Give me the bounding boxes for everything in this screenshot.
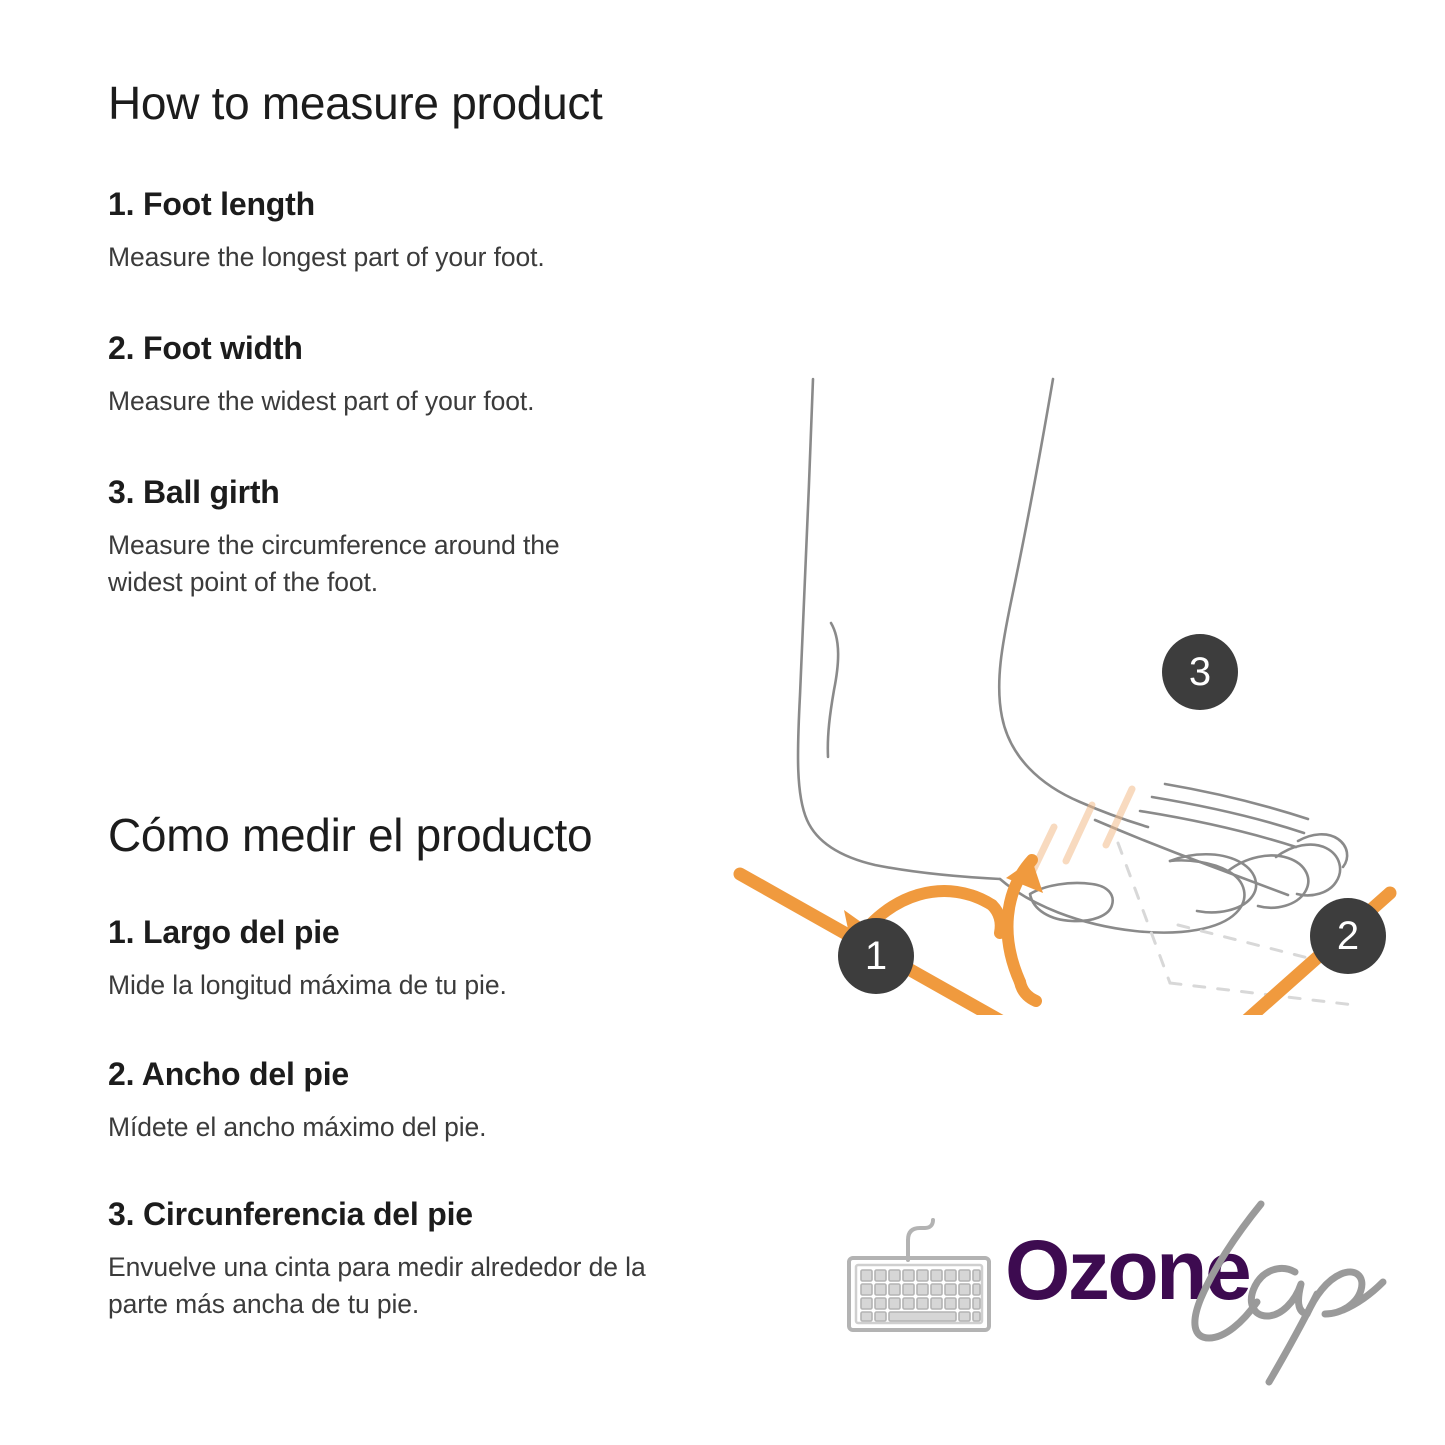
big-toe-nail bbox=[1030, 883, 1113, 921]
logo-lap-script bbox=[1165, 1198, 1395, 1388]
spanish-step-3: 3. Circunferencia del pie Envuelve una c… bbox=[108, 1196, 648, 1324]
girth-tape-hint-b bbox=[1066, 805, 1092, 861]
page-root: How to measure product 1. Foot length Me… bbox=[0, 0, 1445, 1445]
spanish-step-2: 2. Ancho del pie Mídete el ancho máximo … bbox=[108, 1056, 748, 1146]
badge-1-label: 1 bbox=[865, 936, 887, 976]
shin-instep-outline bbox=[999, 379, 1148, 827]
spanish-step-2-body: Mídete el ancho máximo del pie. bbox=[108, 1109, 748, 1147]
spanish-step-2-heading: 2. Ancho del pie bbox=[108, 1056, 748, 1093]
spanish-step-3-heading: 3. Circunferencia del pie bbox=[108, 1196, 648, 1233]
big-toe-outline bbox=[1000, 860, 1244, 932]
badge-2-label: 2 bbox=[1337, 916, 1359, 956]
girth-arrow-over-tail bbox=[992, 905, 1001, 933]
english-step-2-body: Measure the widest part of your foot. bbox=[108, 383, 748, 421]
girth-arrow-up-tail bbox=[1020, 982, 1036, 1001]
english-step-1-heading: 1. Foot length bbox=[108, 186, 748, 223]
badge-foot-width: 2 bbox=[1310, 898, 1386, 974]
badge-foot-length: 1 bbox=[838, 918, 914, 994]
english-step-3: 3. Ball girth Measure the circumference … bbox=[108, 474, 628, 602]
foot-heel-outline bbox=[798, 379, 1000, 879]
ball-plane-guide-left bbox=[1118, 843, 1170, 983]
english-step-3-heading: 3. Ball girth bbox=[108, 474, 628, 511]
badge-ball-girth: 3 bbox=[1162, 634, 1238, 710]
english-step-1-body: Measure the longest part of your foot. bbox=[108, 239, 748, 277]
keyboard-icon bbox=[845, 1218, 993, 1338]
ankle-crease bbox=[828, 623, 838, 757]
spanish-section-title: Cómo medir el producto bbox=[108, 810, 592, 861]
toe-line-a bbox=[1140, 811, 1296, 847]
brand-logo: Ozone bbox=[845, 1210, 1385, 1410]
english-step-3-body: Measure the circumference around the wid… bbox=[108, 527, 628, 602]
english-section-title: How to measure product bbox=[108, 78, 603, 129]
spanish-step-3-body: Envuelve una cinta para medir alrededor … bbox=[108, 1249, 648, 1324]
english-step-1: 1. Foot length Measure the longest part … bbox=[108, 186, 748, 276]
spanish-step-1-body: Mide la longitud máxima de tu pie. bbox=[108, 967, 748, 1005]
girth-tape-hint-a bbox=[1106, 789, 1132, 845]
english-step-2-heading: 2. Foot width bbox=[108, 330, 748, 367]
badge-3-label: 3 bbox=[1189, 652, 1211, 692]
english-step-2: 2. Foot width Measure the widest part of… bbox=[108, 330, 748, 420]
spanish-step-1: 1. Largo del pie Mide la longitud máxima… bbox=[108, 914, 748, 1004]
spanish-step-1-heading: 1. Largo del pie bbox=[108, 914, 748, 951]
